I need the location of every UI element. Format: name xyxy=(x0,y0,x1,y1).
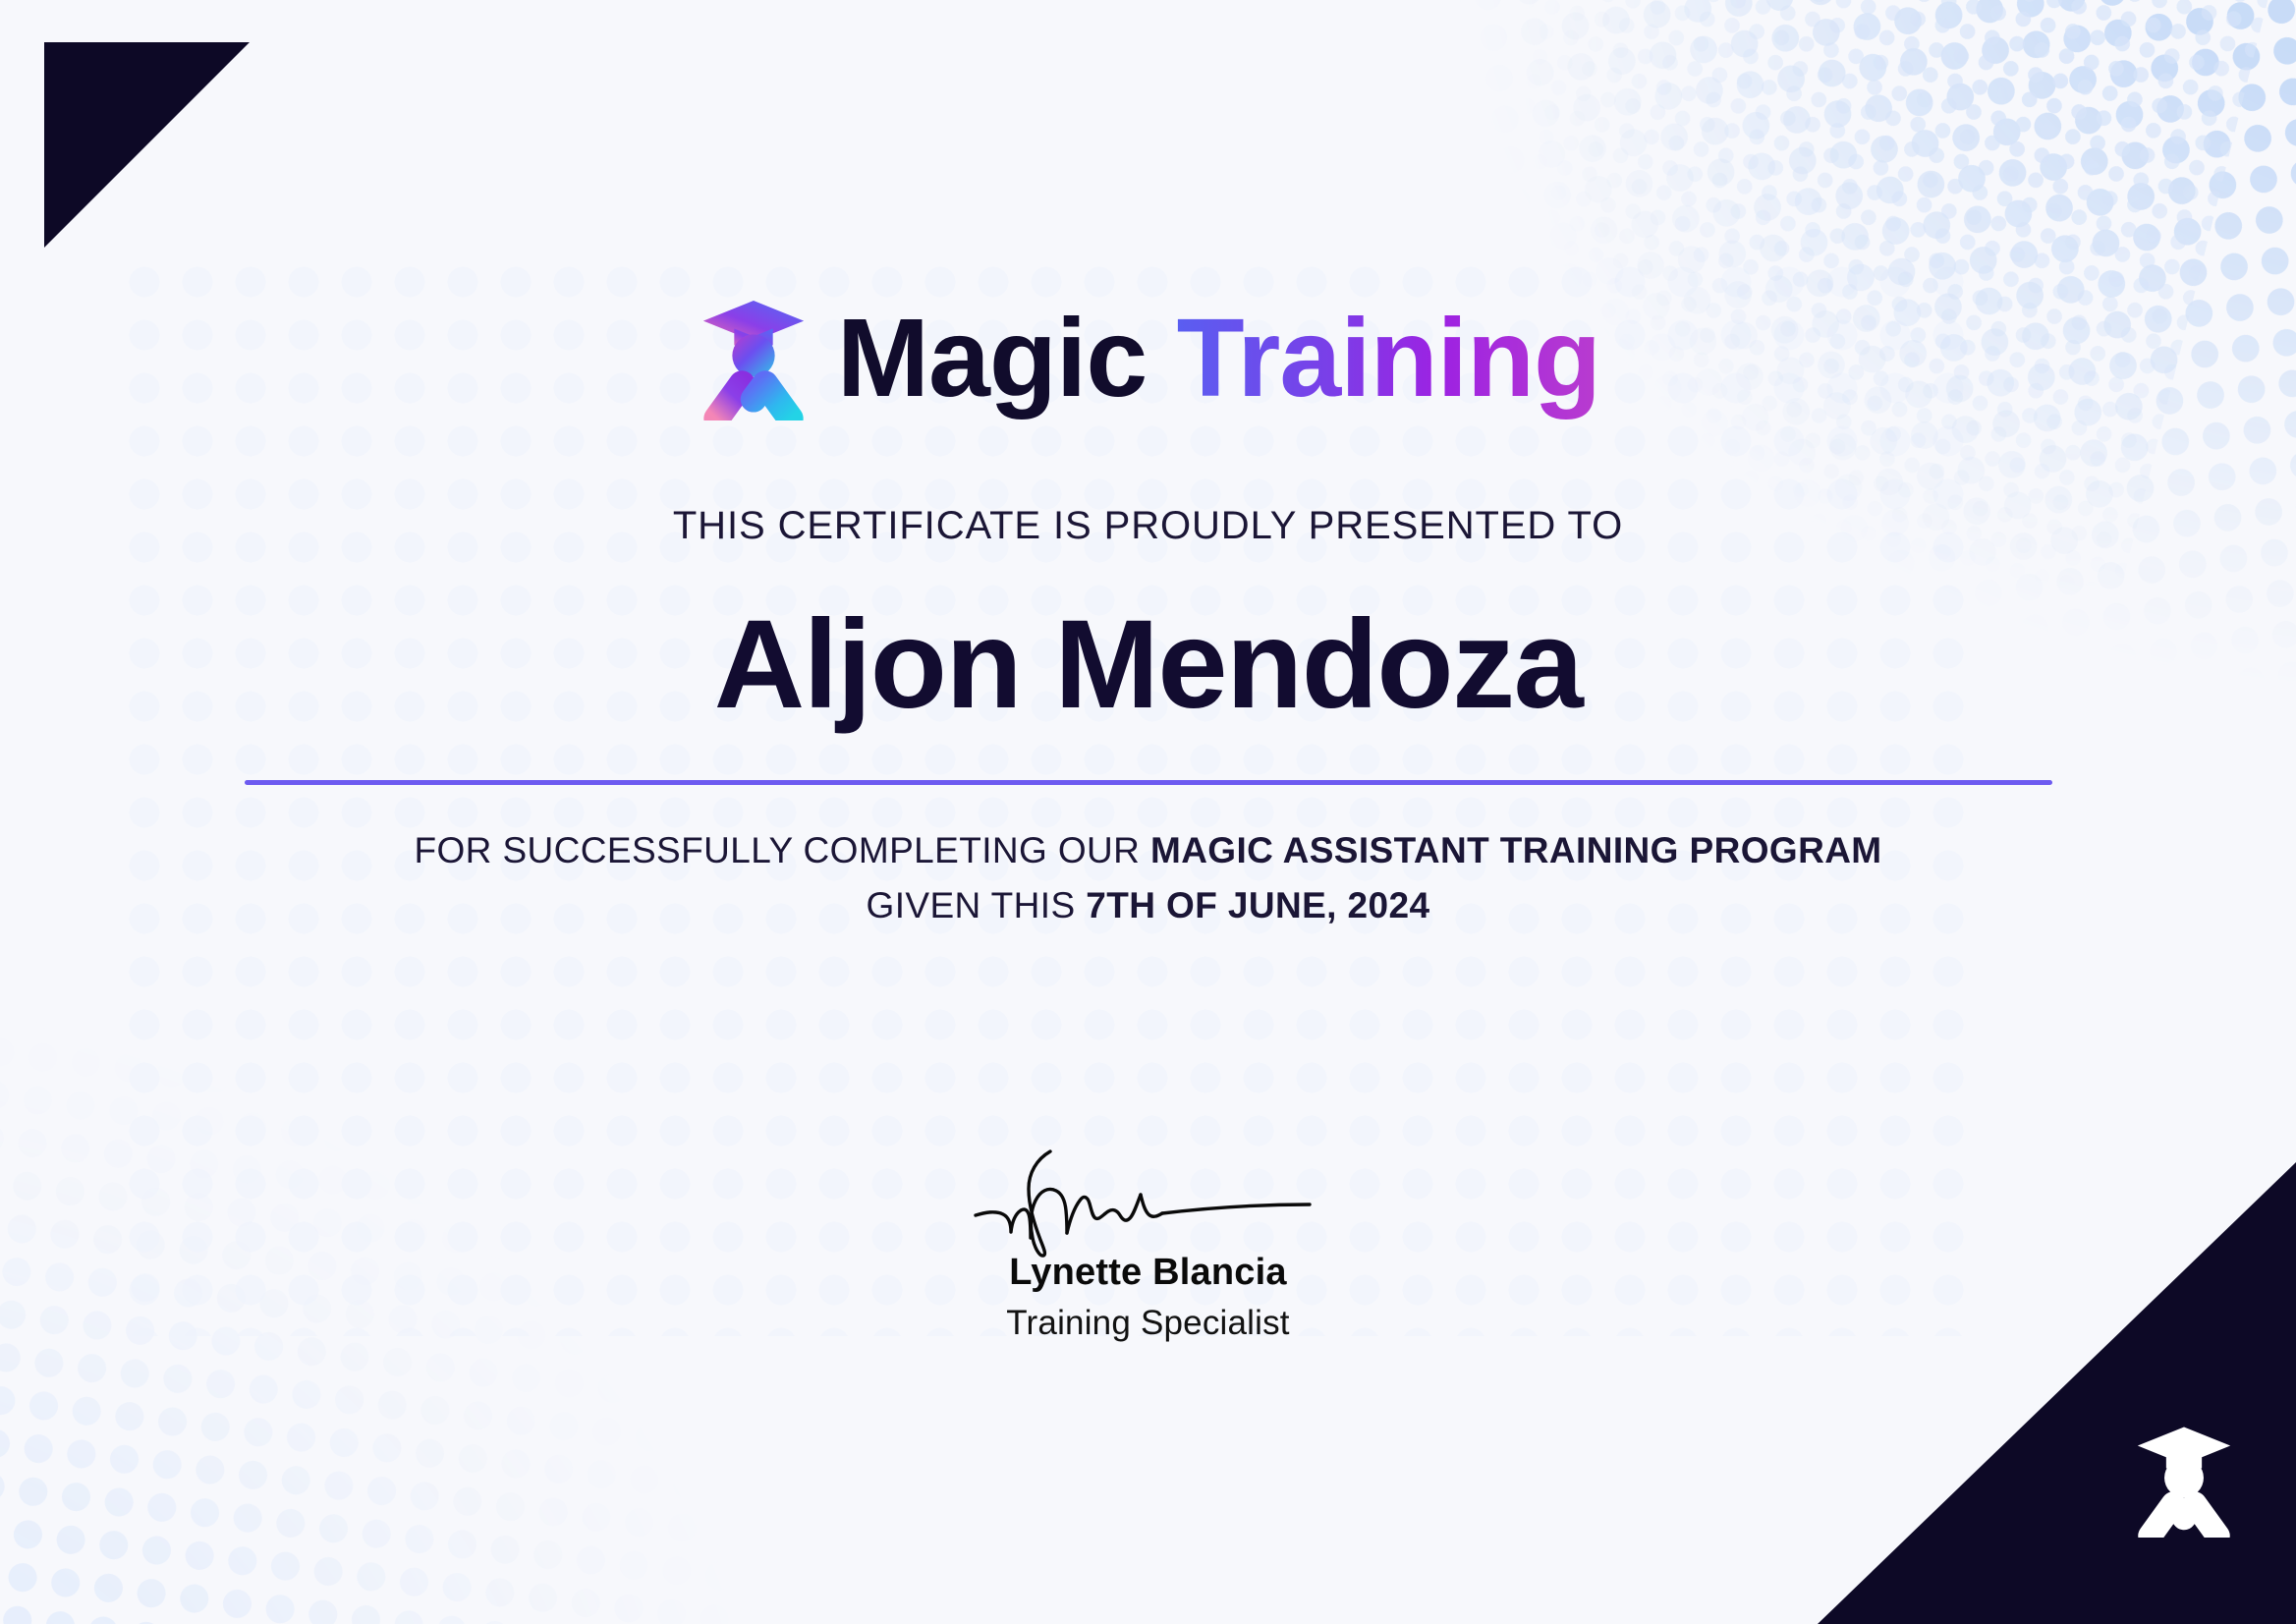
completion-line-1: FOR SUCCESSFULLY COMPLETING OUR MAGIC AS… xyxy=(414,830,1881,871)
completion-line-1-prefix: FOR SUCCESSFULLY COMPLETING OUR xyxy=(414,830,1150,870)
brand-word-training: Training xyxy=(1177,296,1600,420)
certificate-content: Magic Training THIS CERTIFICATE IS PROUD… xyxy=(0,0,2296,1624)
handwritten-signature-icon xyxy=(972,1149,1325,1258)
name-divider xyxy=(245,780,2052,785)
brand-wordmark: Magic Training xyxy=(837,303,1600,414)
brand-lockup: Magic Training xyxy=(696,295,1600,420)
certificate-canvas: Magic Training THIS CERTIFICATE IS PROUD… xyxy=(0,0,2296,1624)
completion-line-2-prefix: GIVEN THIS xyxy=(867,885,1087,925)
issue-date: 7TH OF JUNE, 2024 xyxy=(1086,885,1429,925)
signature-block: Lynette Blancia Training Specialist xyxy=(0,1149,2296,1343)
graduate-logo-icon xyxy=(696,295,812,420)
brand-word-magic: Magic xyxy=(837,296,1147,420)
signatory-name: Lynette Blancia xyxy=(1009,1252,1286,1294)
presented-to-label: THIS CERTIFICATE IS PROUDLY PRESENTED TO xyxy=(673,504,1623,548)
recipient-name: Aljon Mendoza xyxy=(714,599,1583,731)
program-name: MAGIC ASSISTANT TRAINING PROGRAM xyxy=(1150,830,1882,870)
completion-line-2: GIVEN THIS 7TH OF JUNE, 2024 xyxy=(867,885,1430,926)
signatory-role: Training Specialist xyxy=(1006,1304,1289,1343)
